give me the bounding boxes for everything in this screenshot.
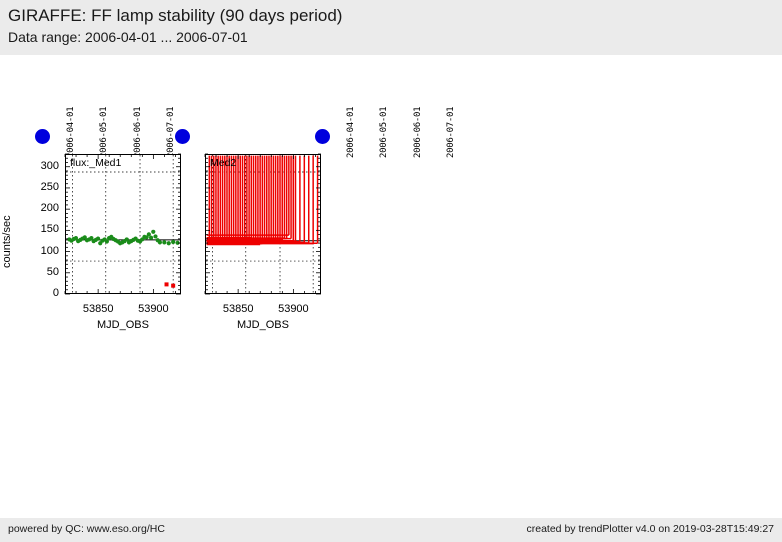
date-tick-label: 2006-05-01 (379, 107, 389, 158)
plot-panel-1[interactable] (65, 154, 181, 294)
plot-panel-2[interactable] (205, 154, 321, 294)
y-tick-label: 250 (23, 181, 59, 193)
x-tick-label: 53900 (268, 303, 318, 315)
x-tick-label: 53850 (73, 303, 123, 315)
date-tick-label: 2006-04-01 (66, 107, 76, 158)
y-axis-title: counts/sec (1, 215, 13, 268)
page-title: GIRAFFE: FF lamp stability (90 days peri… (8, 5, 782, 27)
date-tick-label: 2006-06-01 (413, 107, 423, 158)
panel-title-2: Med2 (210, 157, 236, 169)
page-subtitle: Data range: 2006-04-01 ... 2006-07-01 (8, 27, 782, 47)
page-header: GIRAFFE: FF lamp stability (90 days peri… (0, 0, 782, 55)
y-tick-label: 50 (23, 266, 59, 278)
panel-badge-2[interactable] (175, 129, 190, 144)
footer-credit: powered by QC: www.eso.org/HC (8, 523, 165, 535)
panel-title-1: flux:_Med1 (70, 157, 121, 169)
x-tick-label: 53900 (128, 303, 178, 315)
date-tick-label: 2006-04-01 (346, 107, 356, 158)
y-tick-label: 100 (23, 245, 59, 257)
y-tick-label: 300 (23, 160, 59, 172)
panel-badge-3[interactable] (315, 129, 330, 144)
x-axis-title: MJD_OBS (205, 319, 321, 331)
y-tick-label: 200 (23, 202, 59, 214)
plot-grid: 2006-04-012006-05-012006-06-012006-07-01… (0, 55, 782, 518)
footer-generator: created by trendPlotter v4.0 on 2019-03-… (527, 523, 775, 535)
date-tick-label: 2006-07-01 (166, 107, 176, 158)
page-footer: powered by QC: www.eso.org/HC created by… (0, 518, 782, 542)
x-tick-label: 53850 (213, 303, 263, 315)
y-tick-label: 150 (23, 223, 59, 235)
panel-badge-1[interactable] (35, 129, 50, 144)
x-axis-title: MJD_OBS (65, 319, 181, 331)
date-tick-label: 2006-05-01 (99, 107, 109, 158)
y-tick-label: 0 (23, 287, 59, 299)
date-tick-label: 2006-07-01 (446, 107, 456, 158)
date-tick-label: 2006-06-01 (133, 107, 143, 158)
